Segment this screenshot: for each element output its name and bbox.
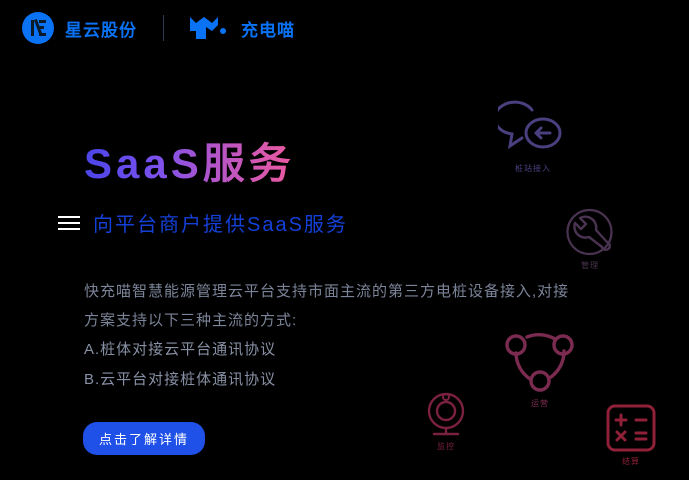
network-share-icon bbox=[503, 325, 577, 395]
site-header: 星云股份 充电喵 bbox=[0, 0, 689, 56]
camera-icon bbox=[423, 390, 469, 438]
subtitle-row: 向平台商户提供SaaS服务 bbox=[58, 208, 348, 237]
calculator-icon bbox=[605, 403, 657, 453]
chat-bubbles-icon bbox=[498, 100, 568, 160]
page-title: SaaS服务 bbox=[84, 130, 295, 191]
page-root: 星云股份 充电喵 SaaS服务 向平台商户提供SaaS服务 快充喵智慧能源管理云… bbox=[0, 0, 689, 480]
page-subtitle: 向平台商户提供SaaS服务 bbox=[93, 208, 348, 237]
floating-icon-label: 运营 bbox=[531, 398, 549, 409]
learn-more-button[interactable]: 点击了解详情 bbox=[83, 422, 205, 455]
list-item: B.云平台对接桩体通讯协议 bbox=[84, 365, 276, 395]
list-item: A.桩体对接云平台通讯协议 bbox=[84, 335, 276, 365]
chargemiao-cat-logo bbox=[188, 15, 232, 41]
brand-secondary-label: 充电喵 bbox=[241, 16, 295, 41]
brand-primary-label: 星云股份 bbox=[65, 16, 137, 41]
floating-icon-label: 桩站接入 bbox=[515, 163, 551, 174]
floating-icon-settle[interactable]: 结算 bbox=[605, 403, 657, 467]
floating-icon-manage[interactable]: 管理 bbox=[562, 207, 618, 271]
brand-primary[interactable]: 星云股份 bbox=[22, 12, 137, 44]
floating-icon-access[interactable]: 桩站接入 bbox=[498, 100, 568, 174]
floating-icon-label: 管理 bbox=[581, 260, 599, 271]
protocol-list: A.桩体对接云平台通讯协议 B.云平台对接桩体通讯协议 bbox=[84, 335, 276, 395]
hamburger-icon[interactable] bbox=[58, 216, 80, 230]
floating-icon-label: 结算 bbox=[622, 456, 640, 467]
nebula-circle-logo bbox=[22, 12, 54, 44]
floating-icon-operate[interactable]: 运营 bbox=[503, 325, 577, 409]
floating-icon-monitor[interactable]: 监控 bbox=[423, 390, 469, 452]
wrench-icon bbox=[562, 207, 618, 257]
brand-secondary[interactable]: 充电喵 bbox=[188, 15, 295, 41]
header-divider bbox=[163, 15, 164, 41]
floating-icon-label: 监控 bbox=[437, 441, 455, 452]
